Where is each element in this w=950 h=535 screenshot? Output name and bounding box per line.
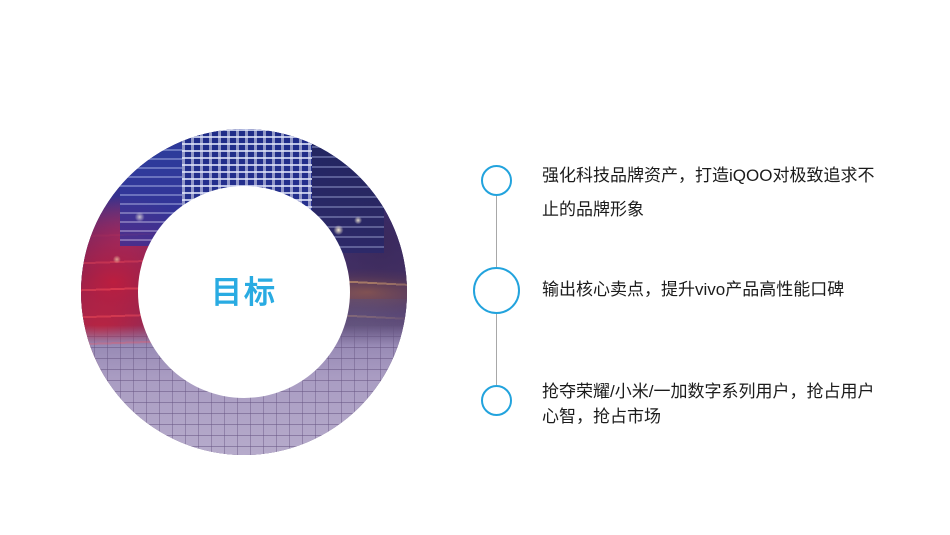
timeline-node-3[interactable] bbox=[481, 385, 512, 416]
timeline-item-text-3: 抢夺荣耀/小米/一加数字系列用户，抢占用户心智，抢占市场 bbox=[542, 379, 882, 429]
timeline-item-text-1: 强化科技品牌资产，打造iQOO对极致追求不止的品牌形象 bbox=[542, 159, 882, 227]
timeline-node-1[interactable] bbox=[481, 165, 512, 196]
slide-canvas: 目标 强化科技品牌资产，打造iQOO对极致追求不止的品牌形象 输出核心卖点，提升… bbox=[0, 0, 950, 535]
timeline-node-2[interactable] bbox=[473, 267, 520, 314]
donut-graphic: 目标 bbox=[81, 129, 407, 455]
timeline-item-text-2: 输出核心卖点，提升vivo产品高性能口碑 bbox=[542, 278, 882, 302]
timeline-connector-2 bbox=[496, 314, 497, 385]
timeline-connector-1 bbox=[496, 196, 497, 267]
donut-center-label: 目标 bbox=[81, 129, 407, 455]
goals-timeline: 强化科技品牌资产，打造iQOO对极致追求不止的品牌形象 输出核心卖点，提升viv… bbox=[470, 150, 890, 440]
